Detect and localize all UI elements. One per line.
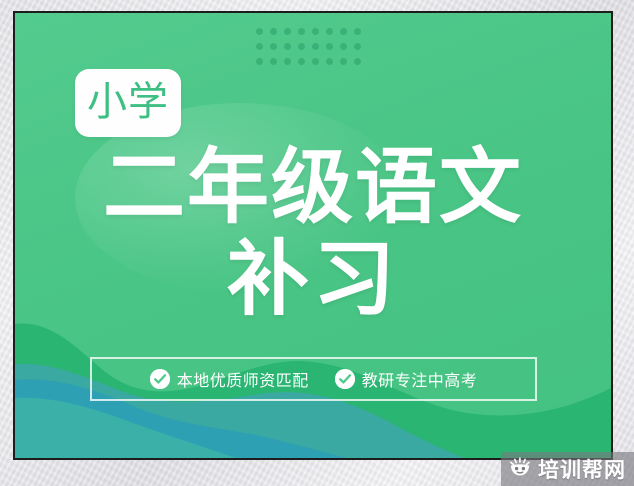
dot <box>354 58 361 65</box>
dot <box>270 28 277 35</box>
feature-item: 教研专注中高考 <box>335 367 478 391</box>
feature-label: 本地优质师资匹配 <box>177 367 309 391</box>
title-line-1: 二年级语文 <box>15 142 611 234</box>
dot <box>284 58 291 65</box>
dot-grid-ornament <box>252 24 364 69</box>
dot <box>284 28 291 35</box>
dot <box>354 28 361 35</box>
dot <box>326 58 333 65</box>
feature-item: 本地优质师资匹配 <box>150 367 309 391</box>
feature-label: 教研专注中高考 <box>362 367 478 391</box>
dot <box>340 28 347 35</box>
poster-canvas: 小学 二年级语文 补习 本地优质师资匹配 <box>15 13 611 458</box>
dot <box>298 43 305 50</box>
dot <box>326 43 333 50</box>
dot <box>298 28 305 35</box>
dot <box>312 28 319 35</box>
check-circle-icon <box>335 369 355 389</box>
dot <box>312 58 319 65</box>
watermark-text: 培训帮网 <box>538 454 626 484</box>
dot <box>256 58 263 65</box>
grade-level-badge: 小学 <box>75 69 181 137</box>
dot <box>270 58 277 65</box>
grade-level-badge-label: 小学 <box>87 82 169 122</box>
dot <box>354 43 361 50</box>
check-circle-icon <box>150 369 170 389</box>
dot <box>256 43 263 50</box>
dot <box>340 43 347 50</box>
dot <box>312 43 319 50</box>
dot <box>270 43 277 50</box>
dot <box>284 43 291 50</box>
dot <box>298 58 305 65</box>
page-title: 二年级语文 补习 <box>15 142 611 326</box>
poster-frame: 小学 二年级语文 补习 本地优质师资匹配 <box>13 11 613 460</box>
feature-strip: 本地优质师资匹配 教研专注中高考 <box>90 357 537 401</box>
sun-face-logo-icon <box>508 456 532 483</box>
poster-screenshot: 小学 二年级语文 补习 本地优质师资匹配 <box>0 0 634 486</box>
dot <box>326 28 333 35</box>
watermark: 培训帮网 <box>501 452 634 486</box>
title-line-2: 补习 <box>15 234 611 326</box>
dot <box>340 58 347 65</box>
dot <box>256 28 263 35</box>
